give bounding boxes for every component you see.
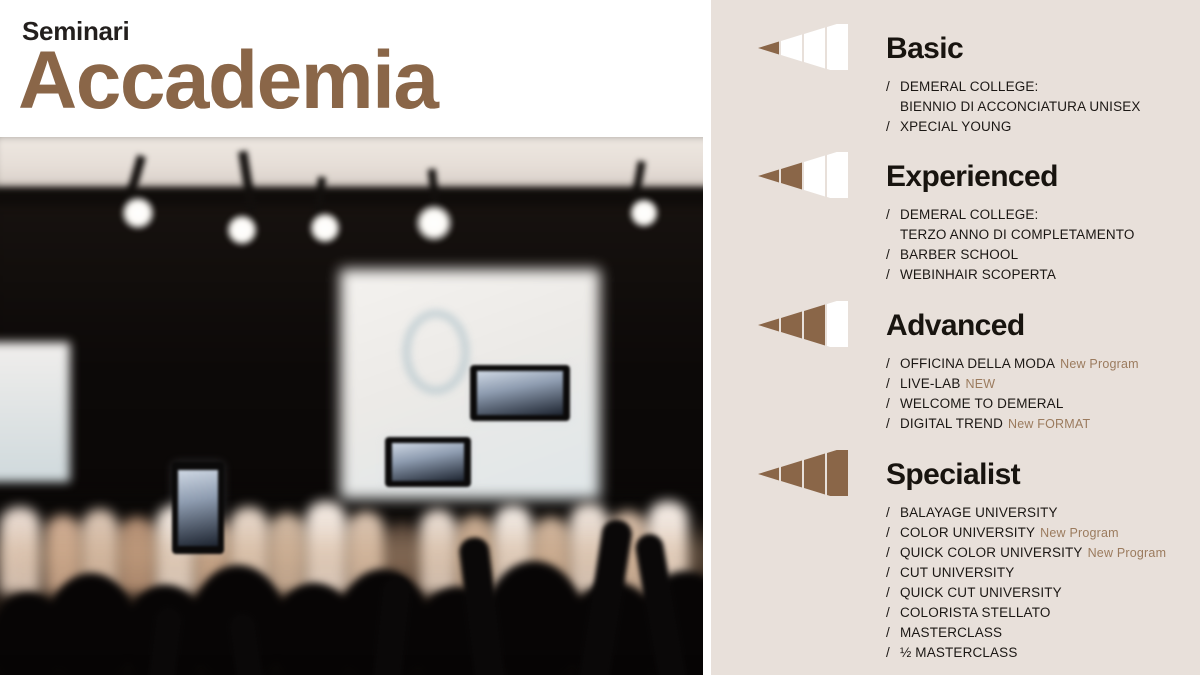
list-item-continuation: BIENNIO DI ACCONCIATURA UNISEX bbox=[886, 97, 1141, 117]
item-label: OFFICINA DELLA MODA bbox=[900, 356, 1055, 371]
item-badge: NEW bbox=[965, 377, 995, 391]
stage-photo bbox=[0, 137, 703, 675]
photo-screen-logo bbox=[403, 310, 469, 394]
item-label: ½ MASTERCLASS bbox=[900, 645, 1017, 660]
list-item[interactable]: /BARBER SCHOOL bbox=[886, 245, 1135, 265]
item-continuation: TERZO ANNO DI COMPLETAMENTO bbox=[900, 227, 1135, 242]
slash-marker: / bbox=[886, 265, 900, 285]
item-label: COLOR UNIVERSITY bbox=[900, 525, 1035, 540]
item-label: BALAYAGE UNIVERSITY bbox=[900, 505, 1058, 520]
list-item[interactable]: /OFFICINA DELLA MODANew Program bbox=[886, 354, 1139, 374]
photo-truss bbox=[0, 189, 703, 205]
photo-spotlight bbox=[308, 211, 342, 245]
item-label: QUICK COLOR UNIVERSITY bbox=[900, 545, 1083, 560]
item-badge: New FORMAT bbox=[1008, 417, 1090, 431]
item-label: DIGITAL TREND bbox=[900, 416, 1003, 431]
slide-root: Seminari Accademia bbox=[0, 0, 1200, 675]
list-item[interactable]: /XPECIAL YOUNG bbox=[886, 117, 1141, 137]
item-badge: New Program bbox=[1060, 357, 1139, 371]
photo-phone bbox=[470, 365, 570, 421]
item-label: QUICK CUT UNIVERSITY bbox=[900, 585, 1062, 600]
list-item[interactable]: /QUICK COLOR UNIVERSITYNew Program bbox=[886, 543, 1166, 563]
section-list: /DEMERAL COLLEGE: TERZO ANNO DI COMPLETA… bbox=[886, 205, 1135, 285]
list-item[interactable]: /COLORISTA STELLATO bbox=[886, 603, 1166, 623]
item-label: BARBER SCHOOL bbox=[900, 247, 1018, 262]
level-arrow-icon bbox=[757, 301, 849, 347]
item-label: LIVE-LAB bbox=[900, 376, 960, 391]
slash-marker: / bbox=[886, 603, 900, 623]
slash-marker: / bbox=[886, 643, 900, 663]
list-item[interactable]: /LIVE-LABNEW bbox=[886, 374, 1139, 394]
section-list: /OFFICINA DELLA MODANew Program /LIVE-LA… bbox=[886, 354, 1139, 434]
slash-marker: / bbox=[886, 503, 900, 523]
list-item-continuation: TERZO ANNO DI COMPLETAMENTO bbox=[886, 225, 1135, 245]
item-label: MASTERCLASS bbox=[900, 625, 1002, 640]
list-item[interactable]: /CUT UNIVERSITY bbox=[886, 563, 1166, 583]
level-arrow-icon bbox=[757, 152, 849, 198]
slash-marker: / bbox=[886, 117, 900, 137]
item-label: WELCOME TO DEMERAL bbox=[900, 396, 1063, 411]
item-badge: New Program bbox=[1040, 526, 1119, 540]
brand-title: Accademia bbox=[18, 40, 438, 122]
photo-ceiling bbox=[0, 137, 703, 197]
level-arrow-icon bbox=[757, 450, 849, 496]
slash-marker: / bbox=[886, 374, 900, 394]
slash-marker: / bbox=[886, 77, 900, 97]
photo-phone bbox=[385, 437, 471, 487]
section-title: Experienced bbox=[886, 162, 1058, 192]
slash-marker: / bbox=[886, 543, 900, 563]
item-label: XPECIAL YOUNG bbox=[900, 119, 1012, 134]
list-item[interactable]: /DEMERAL COLLEGE: bbox=[886, 77, 1141, 97]
slash-marker: / bbox=[886, 523, 900, 543]
list-item[interactable]: /QUICK CUT UNIVERSITY bbox=[886, 583, 1166, 603]
slash-marker: / bbox=[886, 414, 900, 434]
item-badge: New Program bbox=[1088, 546, 1167, 560]
list-item[interactable]: /DEMERAL COLLEGE: bbox=[886, 205, 1135, 225]
photo-spotlight bbox=[414, 203, 454, 243]
item-label: CUT UNIVERSITY bbox=[900, 565, 1014, 580]
column-divider bbox=[703, 0, 711, 675]
section-list: /BALAYAGE UNIVERSITY /COLOR UNIVERSITYNe… bbox=[886, 503, 1166, 663]
photo-spotlight bbox=[628, 197, 660, 229]
list-item[interactable]: /COLOR UNIVERSITYNew Program bbox=[886, 523, 1166, 543]
slash-marker: / bbox=[886, 354, 900, 374]
left-column: Seminari Accademia bbox=[0, 0, 703, 675]
slash-marker: / bbox=[886, 245, 900, 265]
section-title: Specialist bbox=[886, 460, 1020, 490]
list-item[interactable]: /BALAYAGE UNIVERSITY bbox=[886, 503, 1166, 523]
item-label: DEMERAL COLLEGE: bbox=[900, 207, 1038, 222]
section-title: Advanced bbox=[886, 311, 1025, 341]
program-panel: Basic /DEMERAL COLLEGE: BIENNIO DI ACCON… bbox=[711, 0, 1200, 675]
slash-marker: / bbox=[886, 563, 900, 583]
level-arrow-icon bbox=[757, 24, 849, 70]
item-label: DEMERAL COLLEGE: bbox=[900, 79, 1038, 94]
item-continuation: BIENNIO DI ACCONCIATURA UNISEX bbox=[900, 99, 1141, 114]
slash-marker: / bbox=[886, 394, 900, 414]
list-item[interactable]: /WELCOME TO DEMERAL bbox=[886, 394, 1139, 414]
list-item[interactable]: /½ MASTERCLASS bbox=[886, 643, 1166, 663]
photo-spotlight bbox=[225, 213, 259, 247]
slash-marker: / bbox=[886, 205, 900, 225]
section-title: Basic bbox=[886, 34, 963, 64]
list-item[interactable]: /MASTERCLASS bbox=[886, 623, 1166, 643]
photo-side-panel bbox=[0, 342, 70, 482]
photo-phone bbox=[172, 462, 224, 554]
item-label: COLORISTA STELLATO bbox=[900, 605, 1051, 620]
slash-marker: / bbox=[886, 623, 900, 643]
item-label: WEBINHAIR SCOPERTA bbox=[900, 267, 1056, 282]
list-item[interactable]: /DIGITAL TRENDNew FORMAT bbox=[886, 414, 1139, 434]
photo-spotlight bbox=[120, 195, 156, 231]
title-block: Seminari Accademia bbox=[0, 0, 703, 137]
slash-marker: / bbox=[886, 583, 900, 603]
list-item[interactable]: /WEBINHAIR SCOPERTA bbox=[886, 265, 1135, 285]
section-list: /DEMERAL COLLEGE: BIENNIO DI ACCONCIATUR… bbox=[886, 77, 1141, 137]
